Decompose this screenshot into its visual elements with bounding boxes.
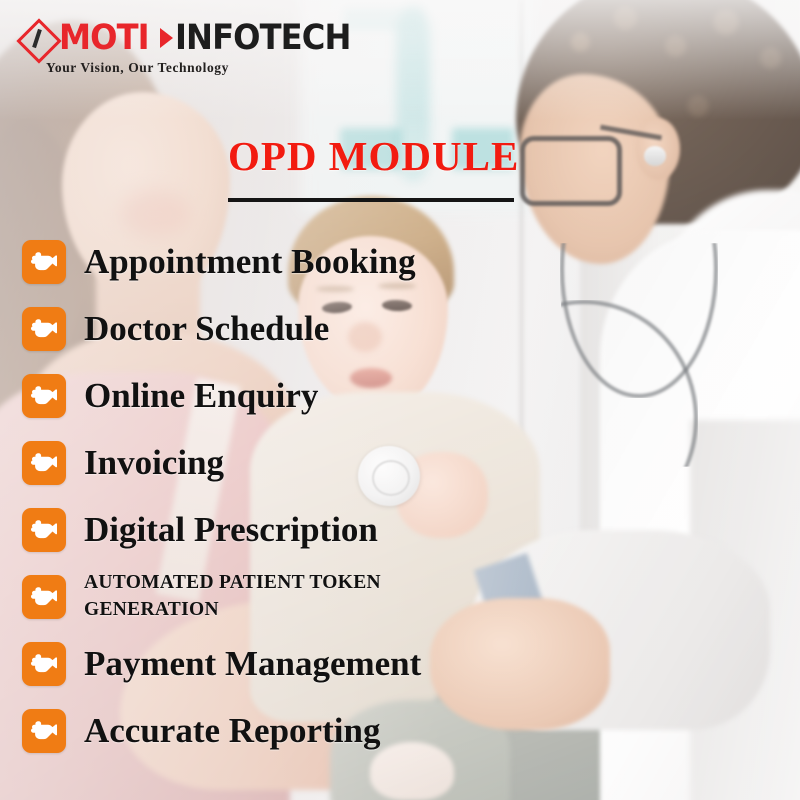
diamond-logo-icon <box>16 18 56 58</box>
page-title: OPD MODULE <box>228 136 518 177</box>
poster-content: MOTI INFOTECH Your Vision, Our Technolog… <box>0 0 800 800</box>
brand-name-secondary: INFOTECH <box>175 21 350 56</box>
list-item-label: Payment Management <box>84 646 421 682</box>
title-underline <box>228 198 514 202</box>
list-item[interactable]: Online Enquiry <box>22 362 562 429</box>
list-item[interactable]: AUTOMATED PATIENT TOKEN GENERATION <box>22 563 562 630</box>
brand-logo[interactable]: MOTI INFOTECH Your Vision, Our Technolog… <box>16 18 366 76</box>
brand-tagline: Your Vision, Our Technology <box>46 60 229 76</box>
play-arrow-icon <box>160 28 173 48</box>
pointing-hand-icon <box>22 307 66 351</box>
page-title-block: OPD MODULE <box>228 136 518 202</box>
list-item[interactable]: Appointment Booking <box>22 228 562 295</box>
pointing-hand-icon <box>22 575 66 619</box>
pointing-hand-icon <box>22 441 66 485</box>
pointing-hand-icon <box>22 240 66 284</box>
brand-logo-row: MOTI INFOTECH <box>16 18 366 58</box>
list-item-label: Accurate Reporting <box>84 713 380 749</box>
list-item-label: Online Enquiry <box>84 378 318 414</box>
list-item-label: AUTOMATED PATIENT TOKEN GENERATION <box>84 570 444 623</box>
list-item[interactable]: Invoicing <box>22 429 562 496</box>
brand-name-primary: MOTI <box>59 21 149 56</box>
list-item-label: Doctor Schedule <box>84 311 329 347</box>
opd-module-poster: MOTI INFOTECH Your Vision, Our Technolog… <box>0 0 800 800</box>
list-item-label: Digital Prescription <box>84 512 378 548</box>
list-item[interactable]: Digital Prescription <box>22 496 562 563</box>
pointing-hand-icon <box>22 374 66 418</box>
feature-list: Appointment Booking Doctor Schedule Onli… <box>22 228 562 764</box>
list-item[interactable]: Accurate Reporting <box>22 697 562 764</box>
list-item-label: Appointment Booking <box>84 244 416 280</box>
list-item-label: Invoicing <box>84 445 224 481</box>
pointing-hand-icon <box>22 709 66 753</box>
list-item[interactable]: Doctor Schedule <box>22 295 562 362</box>
list-item[interactable]: Payment Management <box>22 630 562 697</box>
pointing-hand-icon <box>22 508 66 552</box>
pointing-hand-icon <box>22 642 66 686</box>
